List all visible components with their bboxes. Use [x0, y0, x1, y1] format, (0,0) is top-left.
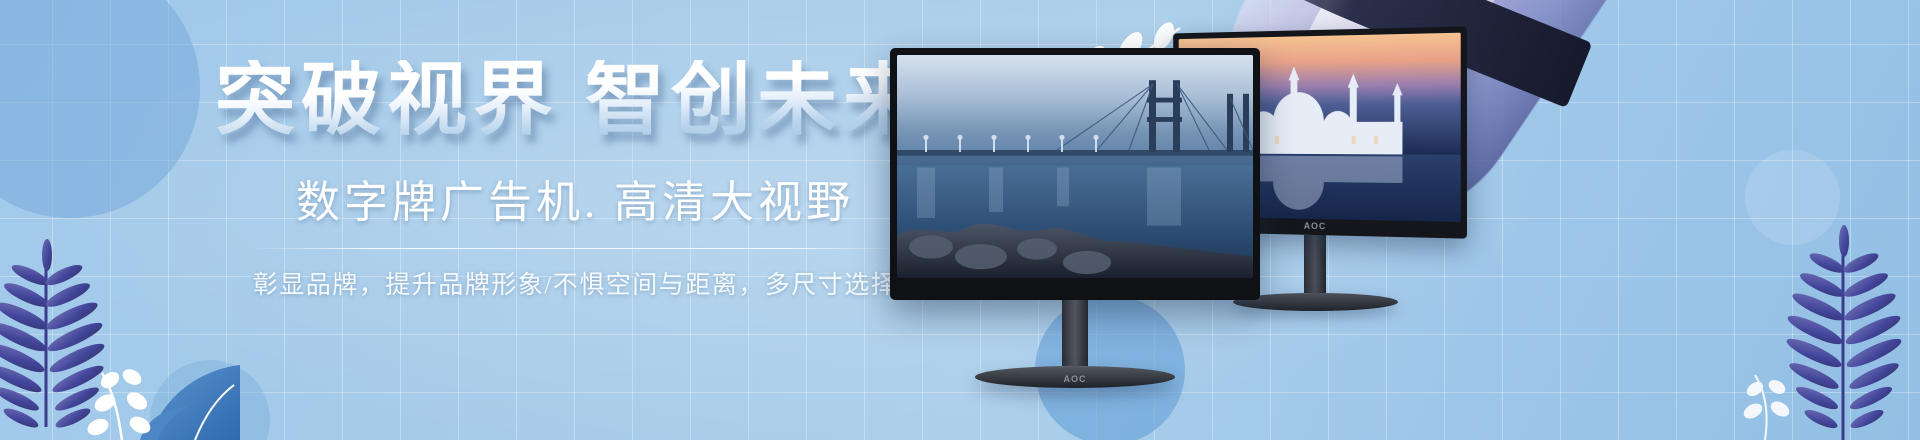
tagline: 彰显品牌，提升品牌形象/不惧空间与距离，多尺寸选择	[215, 265, 935, 301]
promo-banner: 突破视界智创未来 数字牌广告机. 高清大视野 彰显品牌，提升品牌形象/不惧空间与…	[0, 0, 1920, 440]
headline-part-2: 智创未来	[585, 55, 929, 144]
foliage-left	[0, 175, 240, 440]
fern-leaf-icon	[1784, 225, 1904, 440]
brand-logo-front: AOC	[890, 374, 1260, 384]
divider-rule	[248, 248, 903, 249]
monitor-bezel: AOC	[890, 48, 1260, 300]
fern-leaf-icon	[0, 239, 107, 431]
monitor-stand-neck	[1062, 300, 1088, 366]
foliage-right	[1725, 175, 1920, 440]
white-sprig-icon	[1741, 375, 1792, 440]
screen-art-bridge	[897, 55, 1253, 278]
copy-block: 突破视界智创未来 数字牌广告机. 高清大视野 彰显品牌，提升品牌形象/不惧空间与…	[215, 60, 935, 301]
headline-part-1: 突破视界	[215, 55, 559, 144]
page-title: 突破视界智创未来	[215, 60, 935, 140]
product-group: AOC	[880, 0, 1520, 440]
monstera-leaf-icon	[140, 365, 240, 440]
monitor-stand-neck	[1304, 235, 1326, 293]
subtitle: 数字牌广告机. 高清大视野	[215, 166, 935, 230]
product-front-monitor: AOC	[890, 48, 1260, 388]
monitor-screen	[897, 55, 1253, 278]
